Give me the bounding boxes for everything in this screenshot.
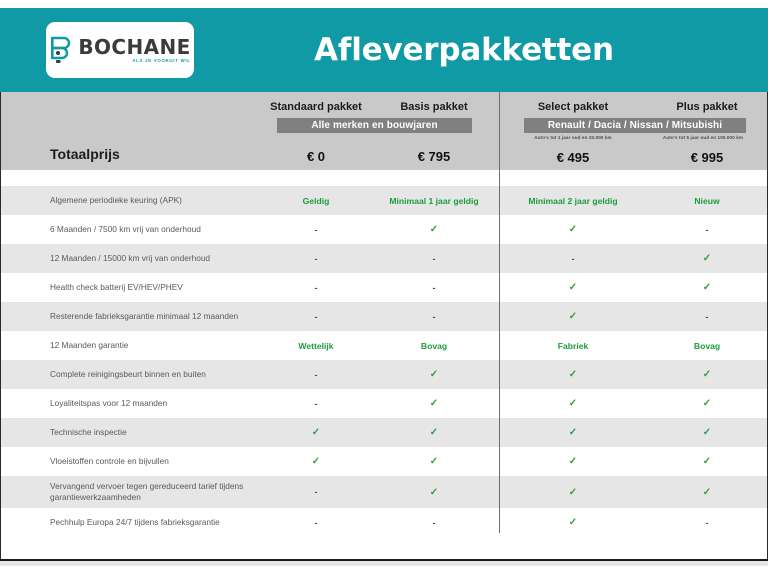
cell-check: ✓ — [646, 427, 768, 438]
column-header-select: Select pakket — [500, 101, 646, 113]
price-standaard: € 0 — [262, 149, 370, 164]
cell-dash: - — [370, 518, 498, 528]
cell-check: ✓ — [646, 398, 768, 409]
cell-check: ✓ — [500, 427, 646, 438]
page-banner: BOCHANE ALS JE VOORUIT WIL Afleverpakket… — [0, 8, 768, 92]
bochane-logo[interactable]: BOCHANE ALS JE VOORUIT WIL — [46, 22, 194, 78]
table-row: Vervangend vervoer tegen gereduceerd tar… — [0, 476, 768, 508]
cell-dash: - — [262, 487, 370, 497]
feature-label: 6 Maanden / 7500 km vrij van onderhoud — [50, 224, 260, 235]
cell-text: Bovag — [370, 341, 498, 351]
cell-check: ✓ — [500, 398, 646, 409]
cell-check: ✓ — [370, 224, 498, 235]
cell-dash: - — [262, 254, 370, 264]
table-row: Vloeistoffen controle en bijvullen✓✓✓✓ — [0, 447, 768, 476]
cell-dash: - — [262, 399, 370, 409]
cell-text: Minimaal 2 jaar geldig — [500, 196, 646, 206]
cell-check: ✓ — [370, 369, 498, 380]
logo-wordmark: BOCHANE — [78, 37, 190, 57]
cell-text: Nieuw — [646, 196, 768, 206]
cell-check: ✓ — [500, 456, 646, 467]
feature-label: Loyaliteitspas voor 12 maanden — [50, 398, 260, 409]
table-bottom-border — [0, 559, 768, 561]
table-row: Health check batterij EV/HEV/PHEV--✓✓ — [0, 273, 768, 302]
header-gap — [0, 170, 768, 186]
cell-check: ✓ — [500, 487, 646, 498]
cell-text: Wettelijk — [262, 341, 370, 351]
cell-check: ✓ — [262, 427, 370, 438]
cell-text: Minimaal 1 jaar geldig — [370, 196, 498, 206]
cell-check: ✓ — [646, 282, 768, 293]
feature-label: Resterende fabrieksgarantie minimaal 12 … — [50, 311, 260, 322]
subnote-select: Auto's tot 1 jaar oud en 20.000 km — [505, 135, 641, 140]
table-row: Algemene periodieke keuring (APK)GeldigM… — [0, 186, 768, 215]
cell-dash: - — [500, 254, 646, 264]
column-header-standaard: Standaard pakket — [262, 101, 370, 113]
feature-label: Vloeistoffen controle en bijvullen — [50, 456, 260, 467]
feature-label: Pechhulp Europa 24/7 tijdens fabrieksgar… — [50, 517, 260, 528]
cell-check: ✓ — [646, 487, 768, 498]
cell-dash: - — [262, 370, 370, 380]
cell-dash: - — [262, 518, 370, 528]
cell-dash: - — [262, 225, 370, 235]
table-row: Loyaliteitspas voor 12 maanden-✓✓✓ — [0, 389, 768, 418]
feature-label: Complete reinigingsbeurt binnen en buite… — [50, 369, 260, 380]
table-row: 12 Maanden / 15000 km vrij van onderhoud… — [0, 244, 768, 273]
group-label-renault-groep: Renault / Dacia / Nissan / Mitsubishi — [524, 118, 746, 133]
table-row: 6 Maanden / 7500 km vrij van onderhoud-✓… — [0, 215, 768, 244]
cell-check: ✓ — [500, 369, 646, 380]
cell-dash: - — [646, 518, 768, 528]
cell-check: ✓ — [500, 517, 646, 528]
price-select: € 495 — [500, 150, 646, 165]
cell-dash: - — [646, 312, 768, 322]
feature-label: Technische inspectie — [50, 427, 260, 438]
cell-check: ✓ — [500, 282, 646, 293]
feature-label: Algemene periodieke keuring (APK) — [50, 195, 260, 206]
table-footer-strip — [0, 533, 768, 560]
page-title-text: Afleverpakketten — [314, 32, 614, 68]
feature-label: Health check batterij EV/HEV/PHEV — [50, 282, 260, 293]
group-label-alle-merken: Alle merken en bouwjaren — [277, 118, 472, 133]
price-plus: € 995 — [646, 150, 768, 165]
logo-tagline: ALS JE VOORUIT WIL — [132, 59, 190, 63]
cell-dash: - — [262, 283, 370, 293]
column-header-basis: Basis pakket — [370, 101, 498, 113]
cell-check: ✓ — [500, 311, 646, 322]
cell-check: ✓ — [646, 253, 768, 264]
cell-text: Bovag — [646, 341, 768, 351]
cell-dash: - — [262, 312, 370, 322]
package-group-divider — [499, 92, 500, 560]
cell-check: ✓ — [262, 456, 370, 467]
totaalprijs-label: Totaalprijs — [50, 146, 120, 162]
cell-check: ✓ — [370, 456, 498, 467]
cell-text: Geldig — [262, 196, 370, 206]
table-row: Resterende fabrieksgarantie minimaal 12 … — [0, 302, 768, 331]
feature-label: 12 Maanden garantie — [50, 340, 260, 351]
cell-dash: - — [370, 254, 498, 264]
feature-label: 12 Maanden / 15000 km vrij van onderhoud — [50, 253, 260, 264]
cell-dash: - — [646, 225, 768, 235]
cell-check: ✓ — [370, 398, 498, 409]
feature-table: Algemene periodieke keuring (APK)GeldigM… — [0, 170, 768, 566]
table-row: 12 Maanden garantieWettelijkBovagFabriek… — [0, 331, 768, 360]
feature-label: Vervangend vervoer tegen gereduceerd tar… — [50, 481, 260, 503]
subnote-plus: Auto's tot 5 jaar oud en 100.000 km — [638, 135, 768, 140]
bochane-b-mark-icon — [49, 35, 73, 65]
cell-check: ✓ — [370, 487, 498, 498]
cell-check: ✓ — [646, 369, 768, 380]
cell-check: ✓ — [500, 224, 646, 235]
afleverpakketten-sheet: BOCHANE ALS JE VOORUIT WIL Afleverpakket… — [0, 0, 768, 576]
cell-dash: - — [370, 283, 498, 293]
cell-check: ✓ — [370, 427, 498, 438]
price-basis: € 795 — [370, 149, 498, 164]
table-left-border — [0, 92, 1, 561]
table-row: Technische inspectie✓✓✓✓ — [0, 418, 768, 447]
cell-text: Fabriek — [500, 341, 646, 351]
column-header-plus: Plus pakket — [646, 101, 768, 113]
cell-check: ✓ — [646, 456, 768, 467]
cell-dash: - — [370, 312, 498, 322]
table-row: Complete reinigingsbeurt binnen en buite… — [0, 360, 768, 389]
